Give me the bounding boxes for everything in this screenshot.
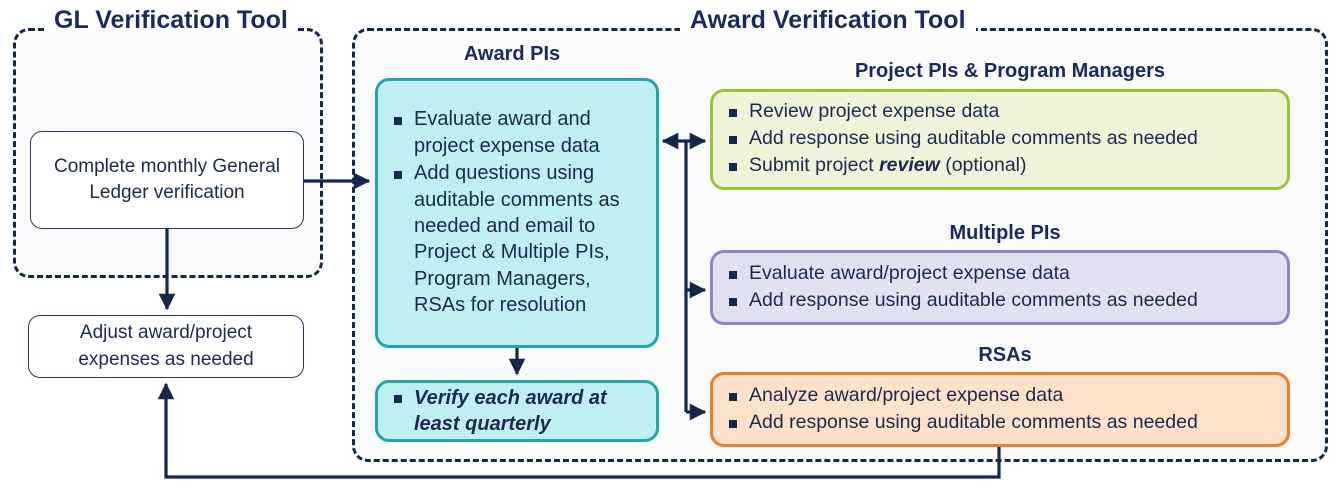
role-title-award-pis: Award PIs xyxy=(394,44,630,64)
list-item: Evaluate award/project expense data xyxy=(725,261,1277,287)
box-adjust-award-project-expenses[interactable]: Adjust award/project expenses as needed xyxy=(28,315,304,378)
rsas-list: Analyze award/project expense data Add r… xyxy=(725,383,1277,437)
list-item: Review project expense data xyxy=(725,99,1277,125)
box-award-pis[interactable]: Evaluate award and project expense data … xyxy=(375,78,659,348)
box-multiple-pis[interactable]: Evaluate award/project expense data Add … xyxy=(710,250,1290,325)
verify-list: Verify each award at least quarterly xyxy=(390,385,646,438)
box-complete-monthly-gl-verification-label: Complete monthly General Ledger verifica… xyxy=(41,154,293,206)
award-pis-list: Evaluate award and project expense data … xyxy=(390,106,646,319)
list-item-suffix: (optional) xyxy=(940,154,1027,176)
multiple-pis-list: Evaluate award/project expense data Add … xyxy=(725,261,1277,315)
role-title-project-pis-program-managers: Project PIs & Program Managers xyxy=(760,61,1260,81)
box-complete-monthly-gl-verification[interactable]: Complete monthly General Ledger verifica… xyxy=(30,131,304,229)
group-gl-verification-tool-title: GL Verification Tool xyxy=(44,8,298,33)
project-pis-list: Review project expense data Add response… xyxy=(725,99,1277,180)
box-verify-each-award[interactable]: Verify each award at least quarterly xyxy=(375,380,659,442)
list-item: Submit project review (optional) xyxy=(725,153,1277,179)
box-rsas[interactable]: Analyze award/project expense data Add r… xyxy=(710,372,1290,447)
list-item: Evaluate award and project expense data xyxy=(390,106,646,159)
list-item-prefix: Submit project xyxy=(749,154,879,176)
diagram-canvas: GL Verification Tool Award Verification … xyxy=(0,0,1341,498)
group-award-verification-tool-title: Award Verification Tool xyxy=(680,8,976,33)
box-project-pis-program-managers[interactable]: Review project expense data Add response… xyxy=(710,89,1290,190)
list-item: Add response using auditable comments as… xyxy=(725,126,1277,152)
list-item: Analyze award/project expense data xyxy=(725,383,1277,409)
role-title-multiple-pis: Multiple PIs xyxy=(805,223,1205,243)
list-item: Verify each award at least quarterly xyxy=(390,385,646,437)
list-item: Add questions using auditable comments a… xyxy=(390,160,646,318)
role-title-rsas: RSAs xyxy=(840,345,1170,365)
box-adjust-award-project-expenses-label: Adjust award/project expenses as needed xyxy=(39,320,293,372)
list-item: Add response using auditable comments as… xyxy=(725,410,1277,436)
list-item-emphasis: review xyxy=(879,154,940,176)
list-item: Add response using auditable comments as… xyxy=(725,288,1277,314)
